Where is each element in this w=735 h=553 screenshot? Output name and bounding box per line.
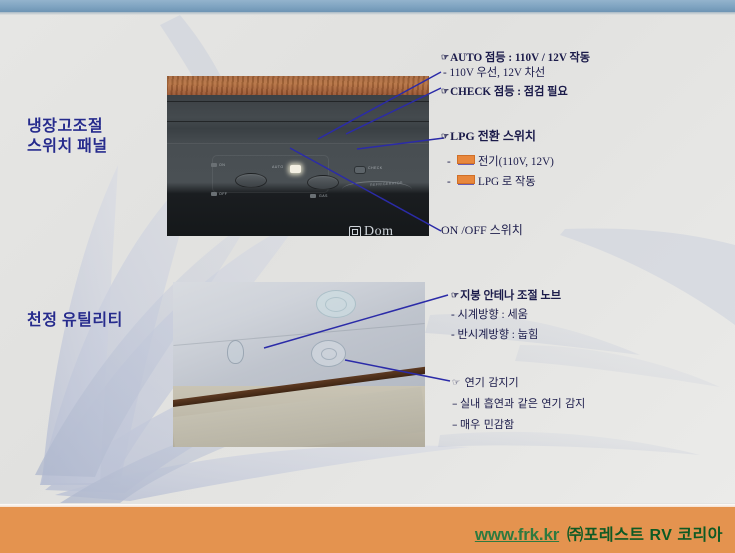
panel-label-off: OFF xyxy=(219,192,227,196)
panel-label-check: CHECK xyxy=(368,166,383,170)
panel-indicator-gas xyxy=(310,194,316,198)
label-refrigerator-panel-line1: 냉장고조절 xyxy=(27,117,108,137)
dash-marker: – xyxy=(452,418,460,431)
panel-indicator-off xyxy=(211,192,217,196)
annotation-lpg-electric-text: 전기(110V, 12V) xyxy=(478,156,554,168)
dash-marker: – xyxy=(452,397,460,410)
annotation-auto-led-text: AUTO 점등 : 110V / 12V 작동 xyxy=(450,52,590,64)
annotation-smoke-sensitive-text: 매우 민감함 xyxy=(460,418,514,431)
auto-led-indicator xyxy=(290,165,301,173)
annotation-lpg-electric: -전기(110V, 12V) xyxy=(447,155,554,169)
company-name: ㈜포레스트 RV 코리아 xyxy=(567,527,723,544)
panel-indicator-on xyxy=(211,163,217,167)
annotation-smoke-sensitive: –매우 민감함 xyxy=(452,418,514,431)
panel-seam xyxy=(167,143,429,144)
pointer-hand-icon: ☞ xyxy=(441,131,449,141)
panel-seam xyxy=(167,121,429,122)
annotation-antenna-heading: ☞지붕 안테나 조절 노브 xyxy=(451,289,561,303)
wood-trim xyxy=(167,76,429,95)
annotation-lpg-gas: -LPG 로 작동 xyxy=(447,175,536,189)
annotation-lpg-heading-text: LPG 전환 스위치 xyxy=(450,129,536,143)
panel-label-on: ON xyxy=(219,163,225,167)
annotation-antenna-heading-text: 지붕 안테나 조절 노브 xyxy=(460,290,561,302)
annotation-check-led-text: CHECK 점등 : 점검 필요 xyxy=(450,86,568,98)
annotation-smoke-detect-text: 실내 흡연과 같은 연기 감지 xyxy=(460,397,585,410)
annotation-lpg-gas-text: LPG 로 작동 xyxy=(478,176,536,188)
photo-ceiling-utility xyxy=(173,282,425,447)
annotation-check-led: ☞CHECK 점등 : 점검 필요 xyxy=(441,85,568,99)
photo-refrigerator-control-panel: ON OFF AUTO GAS CHECK REFRIGERATOR Dom xyxy=(167,76,429,236)
roof-vent xyxy=(316,290,356,318)
label-refrigerator-panel-line2: 스위치 패널 xyxy=(27,137,108,157)
panel-label-gas: GAS xyxy=(319,194,328,198)
annotation-auto-priority: - 110V 우선, 12V 차선 xyxy=(443,67,545,80)
annotation-antenna-cw: - 시계방향 : 세움 xyxy=(451,309,528,322)
panel-body: ON OFF AUTO GAS CHECK REFRIGERATOR Dom xyxy=(167,95,429,236)
dometic-logo-mark xyxy=(349,226,361,236)
pointer-hand-icon: ☞ xyxy=(452,378,460,388)
annotation-smoke-heading-text: 연기 감지기 xyxy=(465,376,519,389)
slide-canvas: ON OFF AUTO GAS CHECK REFRIGERATOR Dom xyxy=(0,0,735,553)
dash-marker: - xyxy=(447,156,455,169)
annotation-smoke-heading: ☞ 연기 감지기 xyxy=(452,376,519,390)
annotation-onoff-switch: ON /OFF 스위치 xyxy=(441,224,523,237)
smoke-detector xyxy=(311,340,346,367)
slide-body: ON OFF AUTO GAS CHECK REFRIGERATOR Dom xyxy=(0,15,735,503)
annotation-smoke-detect: –실내 흡연과 같은 연기 감지 xyxy=(452,397,585,410)
website-link[interactable]: www.frk.kr xyxy=(475,525,559,544)
top-decoration-band xyxy=(0,0,735,12)
footer: www.frk.kr㈜포레스트 RV 코리아 xyxy=(475,521,723,545)
antenna-adjust-knob[interactable] xyxy=(227,340,244,364)
electric-color-swatch xyxy=(457,155,475,164)
panel-label-auto: AUTO xyxy=(272,165,284,169)
dometic-logo-text: Dom xyxy=(364,224,394,236)
label-ceiling-utility: 천정 유틸리티 xyxy=(27,311,123,331)
check-led-indicator xyxy=(354,166,366,174)
pointer-hand-icon: ☞ xyxy=(441,52,449,62)
pointer-hand-icon: ☞ xyxy=(451,290,459,300)
dash-marker: - xyxy=(447,176,455,189)
panel-seam xyxy=(167,101,429,102)
pointer-hand-icon: ☞ xyxy=(441,86,449,96)
annotation-antenna-ccw: - 반시계방향 : 눕힘 xyxy=(451,329,538,342)
ceiling-seam xyxy=(173,323,424,346)
lpg-mode-switch-button[interactable] xyxy=(307,175,339,190)
annotation-lpg-heading: ☞LPG 전환 스위치 xyxy=(441,130,536,143)
label-refrigerator-panel: 냉장고조절 스위치 패널 xyxy=(27,117,108,157)
lpg-color-swatch xyxy=(457,175,475,184)
annotation-auto-led: ☞AUTO 점등 : 110V / 12V 작동 xyxy=(441,51,590,65)
onoff-switch-button[interactable] xyxy=(235,173,267,188)
